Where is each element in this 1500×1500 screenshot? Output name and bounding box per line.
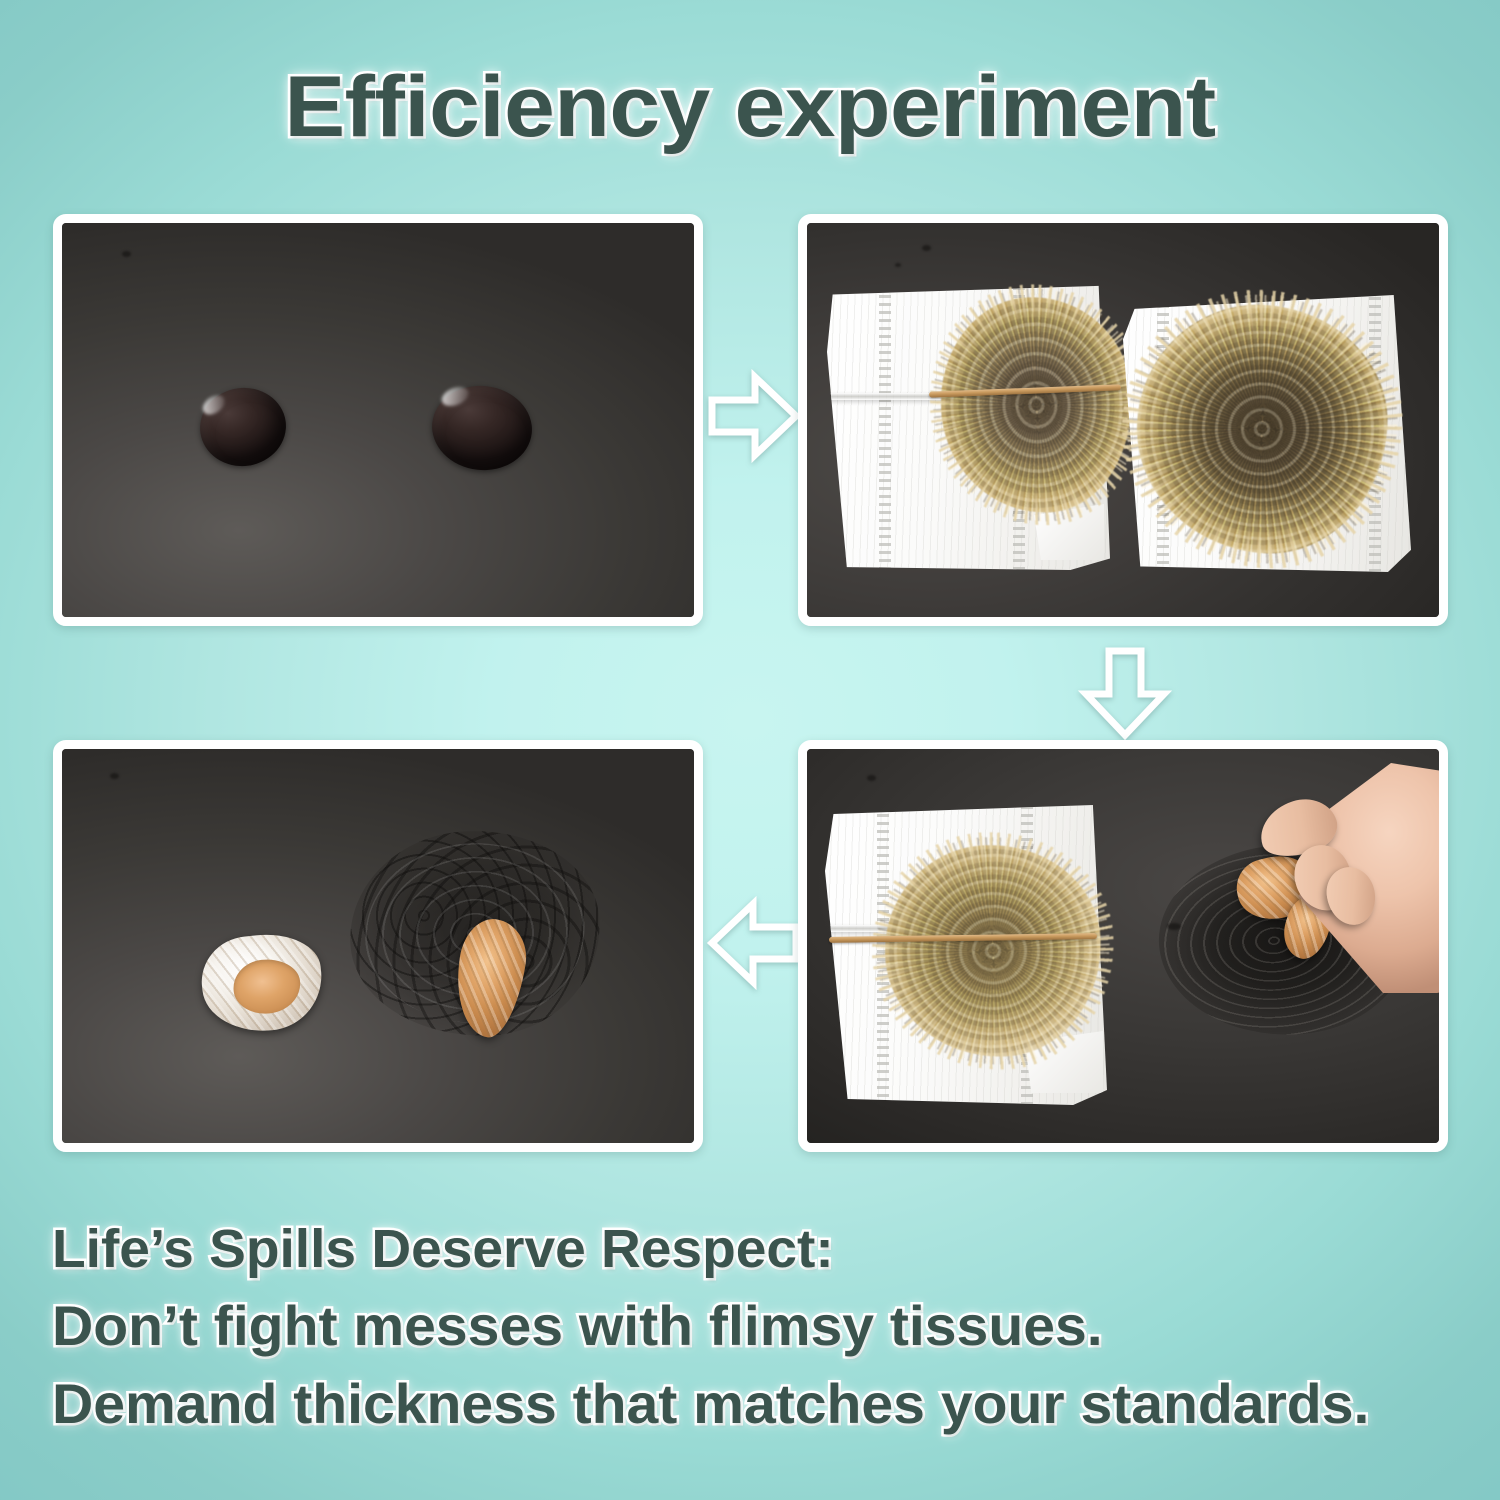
arrow-right-icon xyxy=(706,366,802,466)
caption-line-2: Don’t fight messes with flimsy tissues. xyxy=(52,1298,1490,1354)
desk-speck xyxy=(922,245,931,251)
caption-block: Life’s Spills Deserve Respect: Don’t fig… xyxy=(52,1222,1462,1432)
desk-speck xyxy=(122,251,131,257)
caption-line-3: Demand thickness that matches your stand… xyxy=(52,1376,1490,1432)
arrow-left-icon xyxy=(706,893,802,993)
stain-left xyxy=(934,291,1140,520)
napkin-seam xyxy=(879,283,891,570)
panel-4-wiping xyxy=(798,740,1448,1152)
panel-1-spills xyxy=(53,214,703,626)
stain-right xyxy=(1131,299,1394,560)
panel-2-soaked-napkins xyxy=(798,214,1448,626)
panel-3-result xyxy=(53,740,703,1152)
desk-speck xyxy=(867,775,876,781)
desk-surface xyxy=(62,223,694,617)
stain xyxy=(880,839,1107,1062)
poster-canvas: Efficiency experiment xyxy=(0,0,1500,1500)
page-title: Efficiency experiment xyxy=(0,62,1500,152)
caption-line-1: Life’s Spills Deserve Respect: xyxy=(52,1222,1490,1276)
desk-speck xyxy=(1167,923,1181,930)
arrow-down-icon xyxy=(1075,645,1175,741)
desk-speck xyxy=(895,263,901,267)
desk-speck xyxy=(110,773,119,779)
